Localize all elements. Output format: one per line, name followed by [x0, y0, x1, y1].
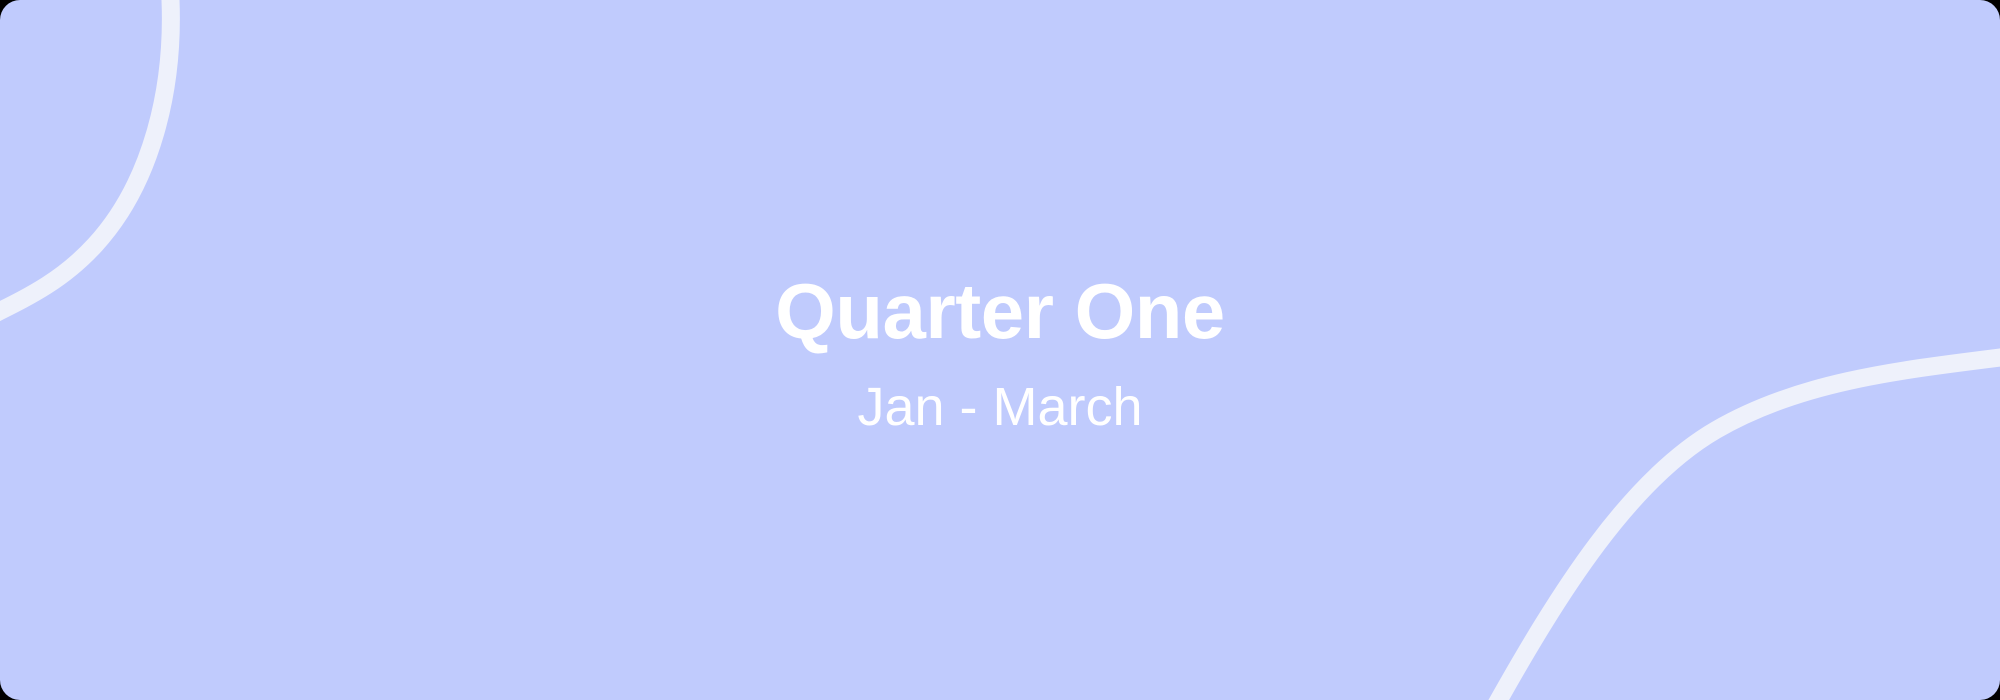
- page-subtitle: Jan - March: [0, 380, 2000, 434]
- quarter-banner: Quarter One Jan - March: [0, 0, 2000, 700]
- banner-content: Quarter One Jan - March: [0, 0, 2000, 700]
- page-title: Quarter One: [0, 272, 2000, 350]
